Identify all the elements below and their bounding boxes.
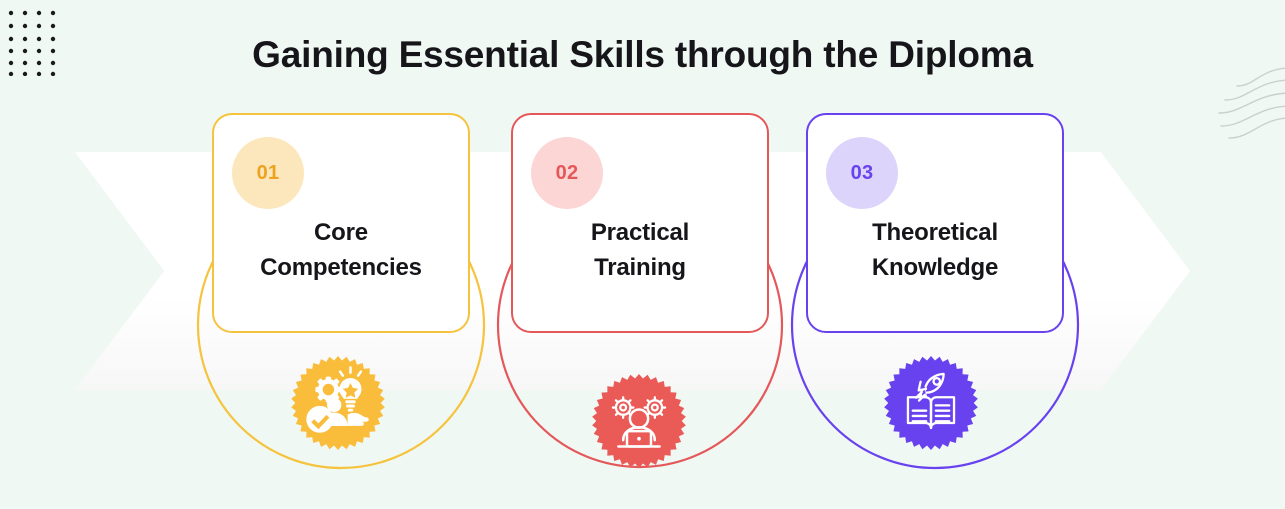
card-number-badge: 01 xyxy=(232,137,304,209)
card-theoretical-knowledge[interactable]: 03 Theoretical Knowledge xyxy=(806,113,1064,333)
person-laptop-gears-icon xyxy=(591,373,687,469)
card-number-badge: 02 xyxy=(531,137,603,209)
badge-practical[interactable] xyxy=(591,373,687,469)
card-title: Theoretical Knowledge xyxy=(820,215,1050,285)
skills-gear-lightbulb-check-icon xyxy=(290,355,386,451)
card-practical-training[interactable]: 02 Practical Training xyxy=(511,113,769,333)
badge-theoretical[interactable] xyxy=(883,355,979,451)
card-title: Practical Training xyxy=(525,215,755,285)
card-core-competencies[interactable]: 01 Core Competencies xyxy=(212,113,470,333)
card-title: Core Competencies xyxy=(226,215,456,285)
card-number-badge: 03 xyxy=(826,137,898,209)
rocket-open-book-icon xyxy=(883,355,979,451)
page-title: Gaining Essential Skills through the Dip… xyxy=(0,30,1285,80)
badge-skills[interactable] xyxy=(290,355,386,451)
